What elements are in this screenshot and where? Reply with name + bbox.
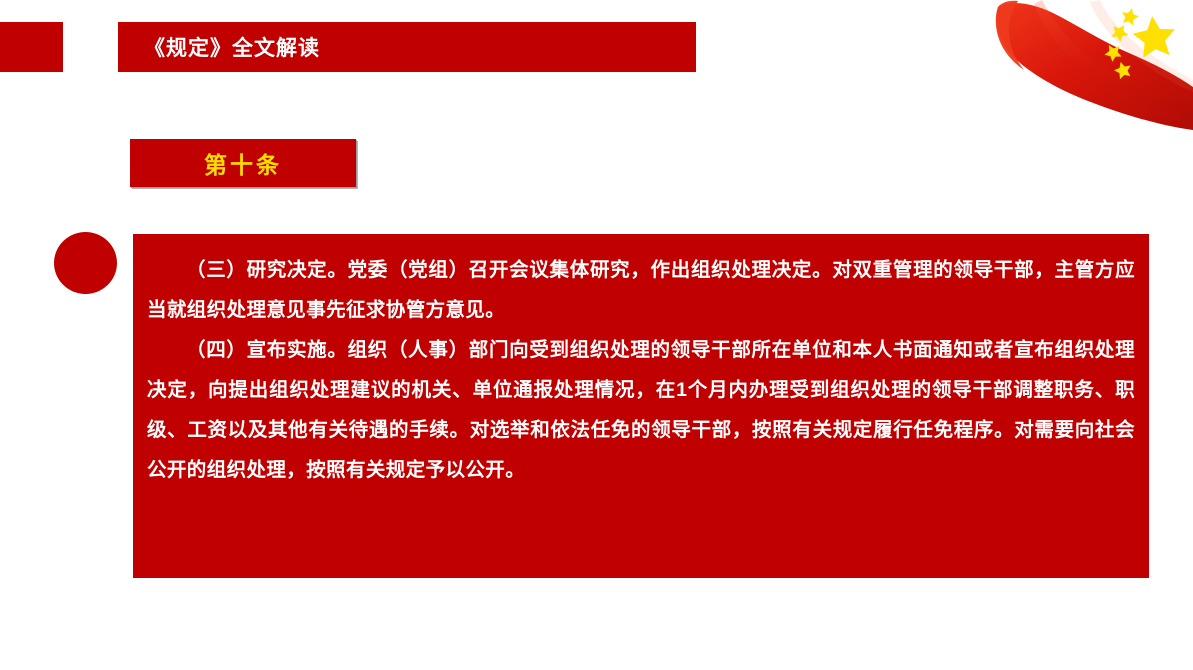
content-paragraph-2: （四）宣布实施。组织（人事）部门向受到组织处理的领导干部所在单位和本人书面通知或… [147,330,1135,490]
section-heading-label: 第十条 [204,146,282,180]
header-accent-block [0,22,63,72]
chinese-national-flag-image [950,0,1193,140]
content-paragraph-1: （三）研究决定。党委（党组）召开会议集体研究，作出组织处理决定。对双重管理的领导… [147,250,1135,330]
page-title: 《规定》全文解读 [118,32,320,62]
slide-root: 《规定》全文解读 [0,0,1193,670]
section-heading-box: 第十条 [130,139,356,187]
header-title-bar: 《规定》全文解读 [118,22,696,72]
bullet-dot [54,232,117,294]
content-panel: （三）研究决定。党委（党组）召开会议集体研究，作出组织处理决定。对双重管理的领导… [133,234,1149,578]
